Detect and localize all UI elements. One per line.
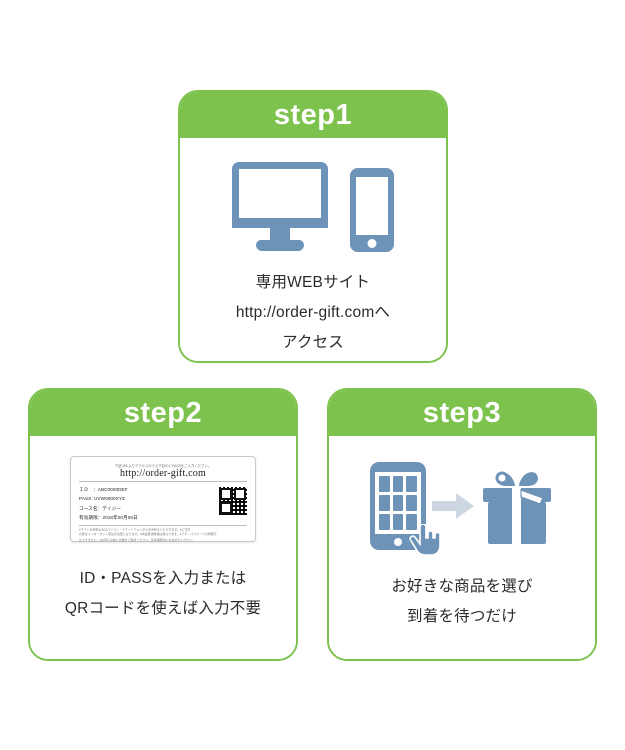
smartphone-home-button <box>394 538 402 546</box>
voucher-field-course: コース名：デイジー <box>79 504 215 513</box>
step3-caption: お好きな商品を選び 到着を待つだけ <box>391 572 532 632</box>
monitor-icon <box>232 162 328 252</box>
voucher-fine-line-2: の際はインターネット環境が必要となります。●商品発送時期は異なります。●ＩＤ・パ… <box>79 533 281 538</box>
voucher-divider-bottom <box>79 525 247 526</box>
step1-caption-line-3: アクセス <box>236 328 390 358</box>
step2-header: step2 <box>30 390 296 436</box>
qr-code-icon <box>219 487 247 515</box>
voucher-fine-line-3: はできません。●お申込み前に内容をご確認ください。有効期限内にお手続きください。 <box>79 538 281 543</box>
smartphone-top-bar <box>350 168 394 177</box>
step2-body: 下記URLよりアクセスのうえ下記IDとPASSをご入力ください。 http://… <box>30 436 296 659</box>
step1-icon-group <box>232 160 394 252</box>
gift-box-icon <box>480 466 554 546</box>
step3-icon-group <box>370 460 554 552</box>
step1-header: step1 <box>180 92 446 138</box>
step2-title: step2 <box>124 399 202 428</box>
voucher-url: http://order-gift.com <box>79 468 247 479</box>
voucher-fine-print: ●ギフトのお申込みはパソコン・スマートフォンからお手続きいただけます。●ご注文 … <box>79 528 281 544</box>
step3-caption-line-2: 到着を待つだけ <box>391 602 532 632</box>
step1-caption-line-2: http://order-gift.comへ <box>236 298 390 328</box>
monitor-screen <box>232 162 328 228</box>
pointing-hand-icon <box>408 524 442 556</box>
step3-card: step3 <box>327 388 597 661</box>
step3-body: お好きな商品を選び 到着を待つだけ <box>329 436 595 659</box>
voucher-field-expiry: 有効期限：2018年00月00日 <box>79 513 215 522</box>
voucher-fields: ＩＤ ：ABC0000DEF PASS: UVW0000XYZ コース名：デイジ… <box>79 485 215 523</box>
voucher-divider-top <box>79 481 247 482</box>
step1-caption: 専用WEBサイト http://order-gift.comへ アクセス <box>236 268 390 359</box>
monitor-base <box>256 240 304 251</box>
arrow-right-icon <box>432 491 474 521</box>
smartphone-icon <box>350 168 394 252</box>
voucher-field-pass: PASS: UVW0000XYZ <box>79 494 215 503</box>
voucher-field-id: ＩＤ ：ABC0000DEF <box>79 485 215 494</box>
gift-voucher-card: 下記URLよりアクセスのうえ下記IDとPASSをご入力ください。 http://… <box>70 456 256 542</box>
smartphone-home-button <box>368 239 377 248</box>
smartphone-tap-icon <box>370 462 426 550</box>
step3-caption-line-1: お好きな商品を選び <box>391 572 532 602</box>
steps-diagram: step1 専用WEBサイト http://order-gift.comへ アク… <box>0 0 625 750</box>
step3-header: step3 <box>329 390 595 436</box>
voucher-note: 下記URLよりアクセスのうえ下記IDとPASSをご入力ください。 <box>58 463 268 468</box>
step1-caption-line-1: 専用WEBサイト <box>236 268 390 298</box>
step1-title: step1 <box>274 101 352 130</box>
step2-caption-line-1: ID・PASSを入力または <box>65 564 261 594</box>
step2-caption: ID・PASSを入力または QRコードを使えば入力不要 <box>65 564 261 624</box>
step1-card: step1 専用WEBサイト http://order-gift.comへ アク… <box>178 90 448 363</box>
step2-caption-line-2: QRコードを使えば入力不要 <box>65 594 261 624</box>
step1-body: 専用WEBサイト http://order-gift.comへ アクセス <box>180 138 446 361</box>
step2-card: step2 下記URLよりアクセスのうえ下記IDとPASSをご入力ください。 h… <box>28 388 298 661</box>
voucher-middle: ＩＤ ：ABC0000DEF PASS: UVW0000XYZ コース名：デイジ… <box>79 485 247 523</box>
step3-title: step3 <box>423 399 501 428</box>
